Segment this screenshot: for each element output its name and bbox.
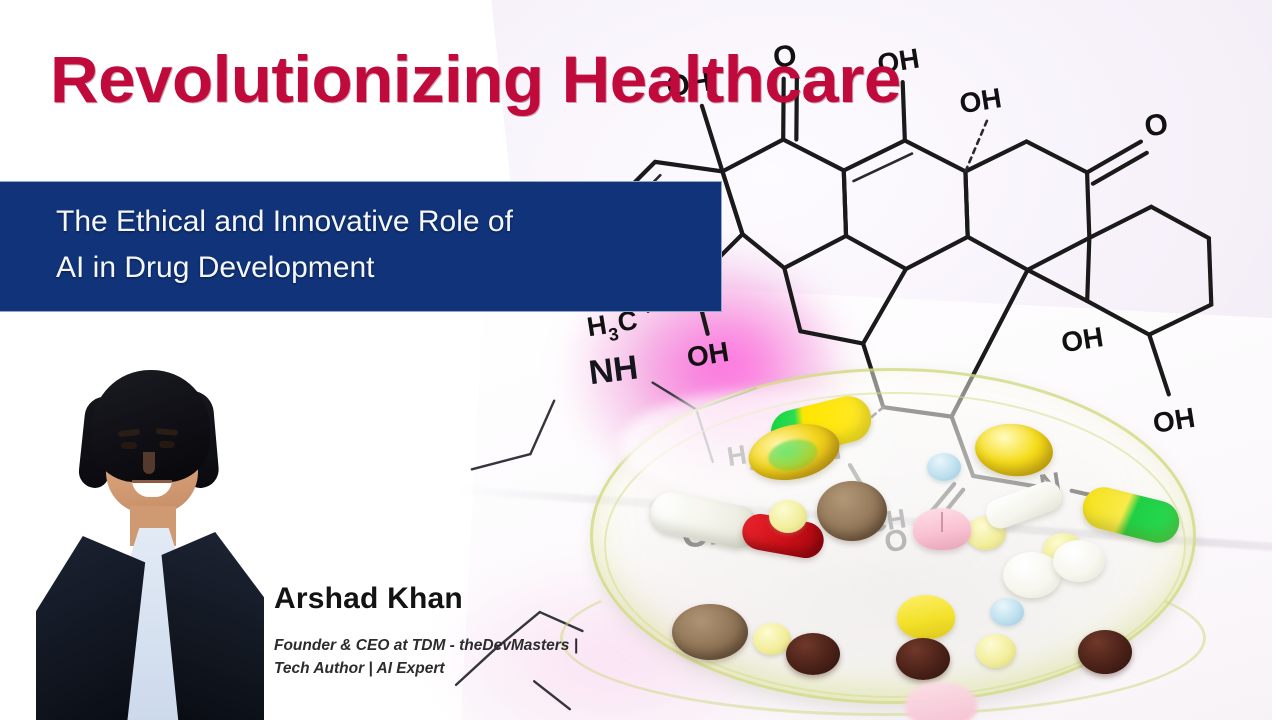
- pill-light-blue-tablet-1: [927, 453, 961, 481]
- pill-yellow-flat-tablet: [897, 595, 955, 639]
- page-title: Revolutionizing Healthcare: [50, 46, 901, 112]
- speaker-name: Arshad Khan: [274, 582, 463, 616]
- pill-dark-brown-tablet-1: [786, 633, 840, 675]
- presentation-slide: OH O OH OH O H 3: [0, 0, 1272, 720]
- credentials-line-1: Founder & CEO at TDM - theDevMasters |: [274, 634, 634, 657]
- nose: [143, 452, 155, 474]
- subtitle-line-2: AI in Drug Development: [56, 245, 716, 291]
- pill-pale-yellow-tablet-1: [769, 500, 807, 533]
- subtitle-line-1: The Ethical and Innovative Role of: [56, 199, 716, 245]
- pill-white-round-tablet-2: [1053, 540, 1105, 582]
- pill-pink-score-line: [941, 512, 943, 532]
- svg-text:OH: OH: [1059, 321, 1105, 358]
- pill-pink-foreground-blur: [905, 682, 977, 720]
- pill-dark-brown-tablet-3: [1078, 630, 1132, 674]
- svg-text:OH: OH: [1151, 402, 1197, 439]
- subtitle-text: The Ethical and Innovative Role of AI in…: [56, 199, 716, 291]
- svg-text:OH: OH: [957, 82, 1003, 119]
- eye-right: [159, 441, 175, 448]
- pill-brown-speckled-tablet-lower: [672, 604, 748, 660]
- pill-light-blue-tablet-2: [990, 598, 1024, 626]
- speaker-portrait: [30, 368, 265, 720]
- speaker-credentials: Founder & CEO at TDM - theDevMasters | T…: [274, 634, 634, 680]
- pill-pale-yellow-tablet-5: [976, 634, 1016, 668]
- pill-dark-brown-tablet-2: [896, 638, 950, 680]
- credentials-line-2: Tech Author | AI Expert: [274, 657, 634, 680]
- eye-left: [121, 442, 137, 449]
- pill-brown-speckled-tablet-upper: [817, 481, 887, 541]
- svg-text:O: O: [1142, 107, 1170, 143]
- label-nh: NH: [587, 348, 640, 392]
